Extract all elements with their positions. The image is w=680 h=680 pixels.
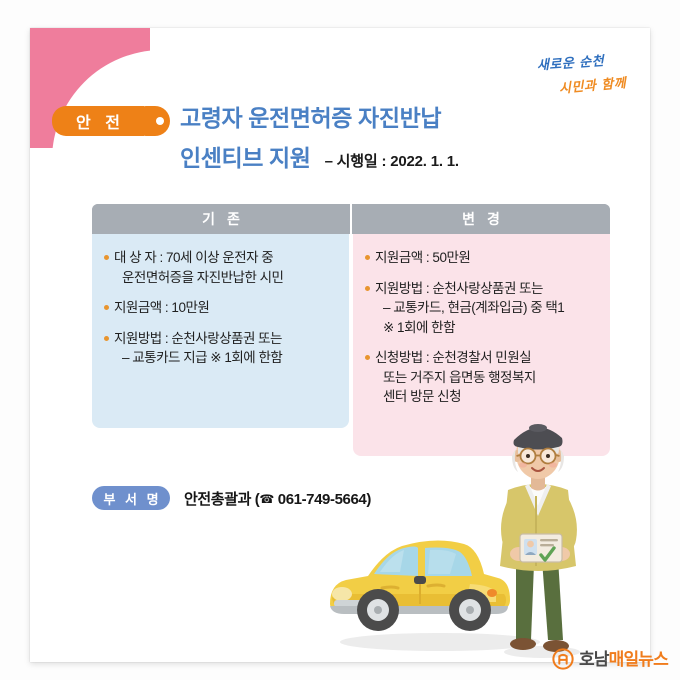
table-header-existing: 기 존 <box>92 204 350 234</box>
department-row: 부 서 명 안전총괄과 (☎ 061-749-5664) <box>92 486 371 510</box>
list-item-text: 지원방법 : 순천사랑상품권 또는 – 교통카드, 현금(계좌입금) 중 택1 … <box>375 279 564 338</box>
bullet-dot-icon <box>365 255 370 260</box>
list-item-line: – 교통카드 지급 ※ 1회에 한함 <box>114 348 282 368</box>
bullet-dot-icon <box>365 355 370 360</box>
department-badge: 부 서 명 <box>92 486 170 510</box>
news-name-part-2: 매일뉴스 <box>609 650 668 669</box>
page-title-line-1: 고령자 운전면허증 자진반납 <box>180 104 459 133</box>
list-item-line: 지원금액 : 10만원 <box>114 300 209 315</box>
list-item: 지원방법 : 순천사랑상품권 또는 – 교통카드, 현금(계좌입금) 중 택1 … <box>365 279 600 338</box>
list-item-line: 대 상 자 : 70세 이상 운전자 중 <box>114 250 273 265</box>
list-item-line: 지원방법 : 순천사랑상품권 또는 <box>114 331 282 346</box>
department-contact: 안전총괄과 (☎ 061-749-5664) <box>184 488 371 509</box>
comparison-table: 기 존 변 경 대 상 자 : 70세 이상 운전자 중 운전면허증을 자진반납… <box>92 204 610 456</box>
effective-date-note: – 시행일 : 2022. 1. 1. <box>325 150 459 171</box>
column-existing: 대 상 자 : 70세 이상 운전자 중 운전면허증을 자진반납한 시민 지원금… <box>92 234 349 428</box>
list-item-line: 지원금액 : 50만원 <box>375 250 470 265</box>
poster-root: 새로운 순천 시민과 함께 안 전 고령자 운전면허증 자진반납 인센티브 지원… <box>0 0 680 680</box>
bullet-dot-icon <box>104 305 109 310</box>
list-item-line: 센터 방문 신청 <box>375 387 536 407</box>
news-logo-mark-icon <box>552 648 574 670</box>
city-slogan: 새로운 순천 시민과 함께 <box>476 50 626 102</box>
telephone-icon: ☎ <box>259 492 274 506</box>
list-item-line: 운전면허증을 자진반납한 시민 <box>114 268 283 288</box>
tag-hole-icon <box>156 117 164 125</box>
list-item: 신청방법 : 순천경찰서 민원실 또는 거주지 읍면동 행정복지 센터 방문 신… <box>365 348 600 407</box>
table-header-changed: 변 경 <box>350 204 610 234</box>
title-wrap: 고령자 운전면허증 자진반납 인센티브 지원 – 시행일 : 2022. 1. … <box>180 104 459 173</box>
list-item-line: – 교통카드, 현금(계좌입금) 중 택1 <box>375 298 564 318</box>
list-item-text: 지원금액 : 10만원 <box>114 298 209 318</box>
list-item: 지원방법 : 순천사랑상품권 또는 – 교통카드 지급 ※ 1회에 한함 <box>104 329 339 368</box>
list-item: 지원금액 : 50만원 <box>365 248 600 268</box>
list-item-line: 또는 거주지 읍면동 행정복지 <box>375 368 536 388</box>
column-changed: 지원금액 : 50만원 지원방법 : 순천사랑상품권 또는 – 교통카드, 현금… <box>353 234 610 456</box>
list-item-line: 지원방법 : 순천사랑상품권 또는 <box>375 281 543 296</box>
list-item: 대 상 자 : 70세 이상 운전자 중 운전면허증을 자진반납한 시민 <box>104 248 339 287</box>
news-outlet-name: 호남매일뉴스 <box>579 651 668 668</box>
news-name-part-1: 호남 <box>579 650 609 669</box>
headline-row: 안 전 고령자 운전면허증 자진반납 인센티브 지원 – 시행일 : 2022.… <box>52 104 612 173</box>
page-title-line-2: 인센티브 지원 – 시행일 : 2022. 1. 1. <box>180 139 459 173</box>
table-header-row: 기 존 변 경 <box>92 204 610 234</box>
category-tag-label: 안 전 <box>71 109 125 133</box>
poster-card: 새로운 순천 시민과 함께 안 전 고령자 운전면허증 자진반납 인센티브 지원… <box>30 28 650 662</box>
list-item-line: 신청방법 : 순천경찰서 민원실 <box>375 350 531 365</box>
bullet-dot-icon <box>104 336 109 341</box>
list-item-line: ※ 1회에 한함 <box>375 318 564 338</box>
bullet-dot-icon <box>104 255 109 260</box>
list-item: 지원금액 : 10만원 <box>104 298 339 318</box>
list-item-text: 지원금액 : 50만원 <box>375 248 470 268</box>
page-title-main: 인센티브 지원 <box>180 139 311 173</box>
list-item-text: 대 상 자 : 70세 이상 운전자 중 운전면허증을 자진반납한 시민 <box>114 248 283 287</box>
list-item-text: 신청방법 : 순천경찰서 민원실 또는 거주지 읍면동 행정복지 센터 방문 신… <box>375 348 536 407</box>
department-name: 안전총괄과 <box>184 491 251 508</box>
department-phone: 061-749-5664 <box>278 491 367 508</box>
list-item-text: 지원방법 : 순천사랑상품권 또는 – 교통카드 지급 ※ 1회에 한함 <box>114 329 282 368</box>
headline-block: 안 전 고령자 운전면허증 자진반납 인센티브 지원 – 시행일 : 2022.… <box>52 104 612 173</box>
slogan-line-2: 시민과 함께 <box>476 72 627 104</box>
table-body: 대 상 자 : 70세 이상 운전자 중 운전면허증을 자진반납한 시민 지원금… <box>92 234 610 456</box>
bullet-dot-icon <box>365 286 370 291</box>
department-phone-group: (☎ 061-749-5664) <box>255 491 371 508</box>
news-outlet-logo: 호남매일뉴스 <box>552 646 668 672</box>
category-tag-safety: 안 전 <box>52 106 144 136</box>
slogan-line-1: 새로운 순천 <box>476 50 605 78</box>
